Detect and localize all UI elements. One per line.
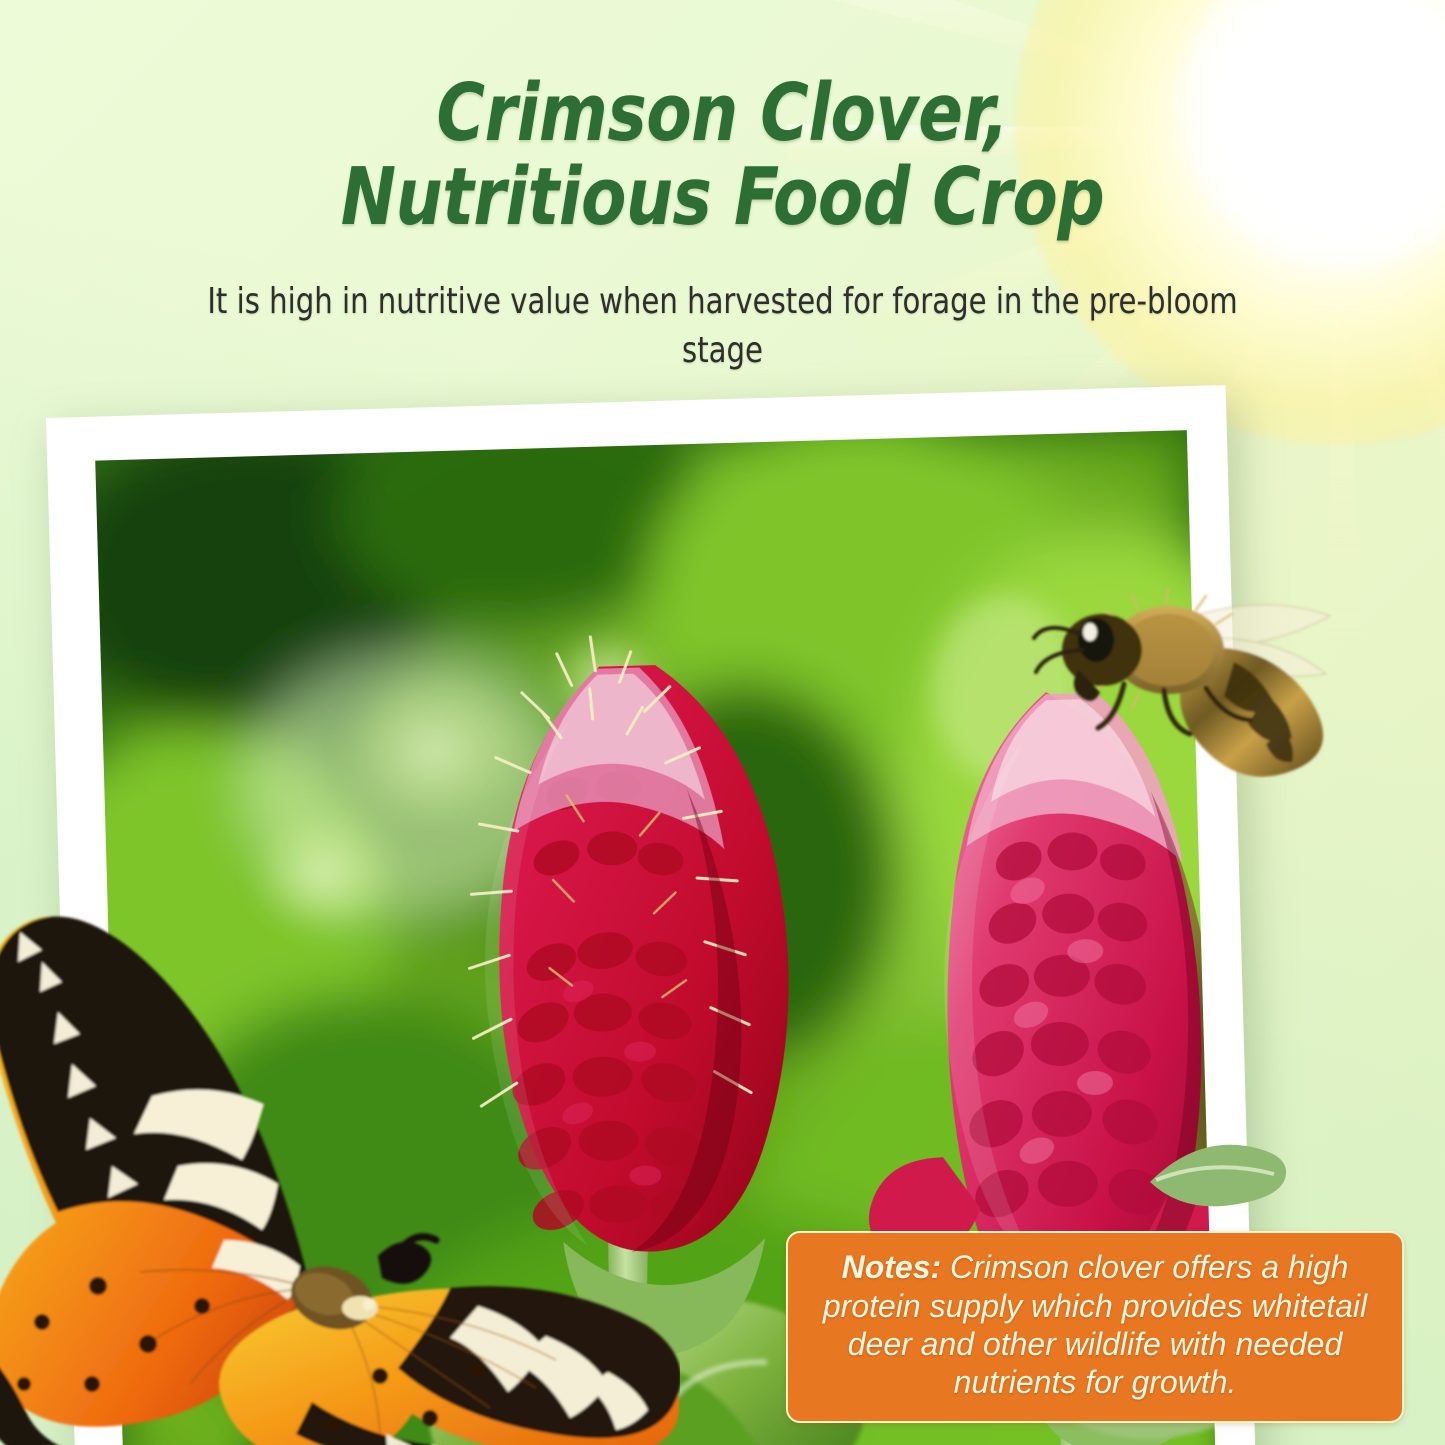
page-subtitle: It is high in nutritive value when harve… bbox=[207, 278, 1238, 376]
clover-leaf-icon bbox=[1150, 1130, 1290, 1230]
poster-canvas: Crimson Clover, Nutritious Food Crop It … bbox=[0, 0, 1445, 1445]
notes-label: Notes: bbox=[842, 1249, 942, 1285]
page-title-line2: Nutritious Food Crop bbox=[51, 156, 1395, 240]
butterfly-icon bbox=[0, 836, 680, 1445]
notes-callout: Notes: Crimson clover offers a high prot… bbox=[786, 1231, 1404, 1423]
honey-bee-icon bbox=[1020, 588, 1340, 778]
page-title-line1: Crimson Clover, bbox=[51, 72, 1395, 156]
page-title: Crimson Clover, Nutritious Food Crop bbox=[51, 72, 1395, 239]
notes-text: Notes: Crimson clover offers a high prot… bbox=[804, 1248, 1386, 1402]
